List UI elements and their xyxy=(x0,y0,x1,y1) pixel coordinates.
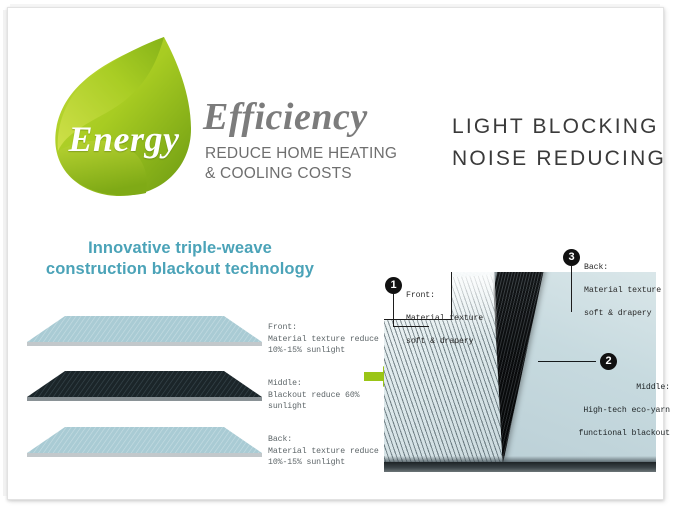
layer-label-front-line2: 10%-15% sunlight xyxy=(268,345,398,357)
callout-3-leader xyxy=(571,266,572,312)
callout-2-leader xyxy=(538,361,596,362)
leaf-icon xyxy=(46,33,196,198)
energy-logo: Energy xyxy=(46,33,196,198)
brand-subtitle-line1: REDUCE HOME HEATING xyxy=(205,144,465,164)
section-heading-line2: construction blackout technology xyxy=(20,259,340,280)
callout-1-line2: soft & drapery xyxy=(406,336,483,348)
layer-label-middle-line2: sunlight xyxy=(268,401,398,413)
logo-wordmark: Energy xyxy=(54,118,194,160)
section-heading-line1: Innovative triple-weave xyxy=(20,238,340,259)
infographic-canvas: Energy Efficiency REDUCE HOME HEATING & … xyxy=(0,0,679,512)
callout-badge-3: 3 xyxy=(563,249,580,266)
layer-label-back-title: Back: xyxy=(268,434,398,446)
slab-middle-shape xyxy=(27,371,262,401)
brand-subtitle: REDUCE HOME HEATING & COOLING COSTS xyxy=(205,144,465,184)
slab-front-shape xyxy=(27,316,262,346)
callout-3-line1: Material texture xyxy=(584,285,661,297)
layer-label-middle-line1: Blackout reduce 60% xyxy=(268,390,398,402)
layer-slab-back xyxy=(27,427,262,461)
callout-2-line2: functional blackout xyxy=(560,428,670,440)
slab-back-shape xyxy=(27,427,262,457)
callout-badge-2: 2 xyxy=(600,353,617,370)
layer-label-front-line1: Material texture reduce xyxy=(268,334,398,346)
callout-3-line2: soft & drapery xyxy=(584,308,661,320)
layer-label-back-line2: 10%-15% sunlight xyxy=(268,457,398,469)
layer-label-back-line1: Material texture reduce xyxy=(268,446,398,458)
brand-title: Efficiency xyxy=(203,95,368,139)
layer-label-front: Front: Material texture reduce 10%-15% s… xyxy=(268,322,398,357)
section-heading: Innovative triple-weave construction bla… xyxy=(20,238,340,280)
callout-2-line1: High-tech eco-yarn xyxy=(560,405,670,417)
callout-2-title: Middle: xyxy=(560,382,670,394)
callout-badge-1: 1 xyxy=(385,277,402,294)
photo-floor xyxy=(384,462,656,472)
callout-3-title: Back: xyxy=(584,262,661,274)
layer-slab-front xyxy=(27,316,262,350)
claim-noise-reducing: NOISE REDUCING xyxy=(452,147,666,171)
callout-text-1: Front: Material texture soft & drapery xyxy=(406,278,483,359)
callout-text-3: Back: Material texture soft & drapery xyxy=(584,250,661,331)
claim-light-blocking: LIGHT BLOCKING xyxy=(452,115,659,139)
layer-label-back: Back: Material texture reduce 10%-15% su… xyxy=(268,434,398,469)
layer-label-front-title: Front: xyxy=(268,322,398,334)
callout-1-line1: Material texture xyxy=(406,313,483,325)
layer-slab-middle xyxy=(27,371,262,405)
callout-1-leader-vertical xyxy=(393,294,394,327)
brand-subtitle-line2: & COOLING COSTS xyxy=(205,164,465,184)
callout-text-2: Middle: High-tech eco-yarn functional bl… xyxy=(560,370,670,451)
callout-1-title: Front: xyxy=(406,290,483,302)
